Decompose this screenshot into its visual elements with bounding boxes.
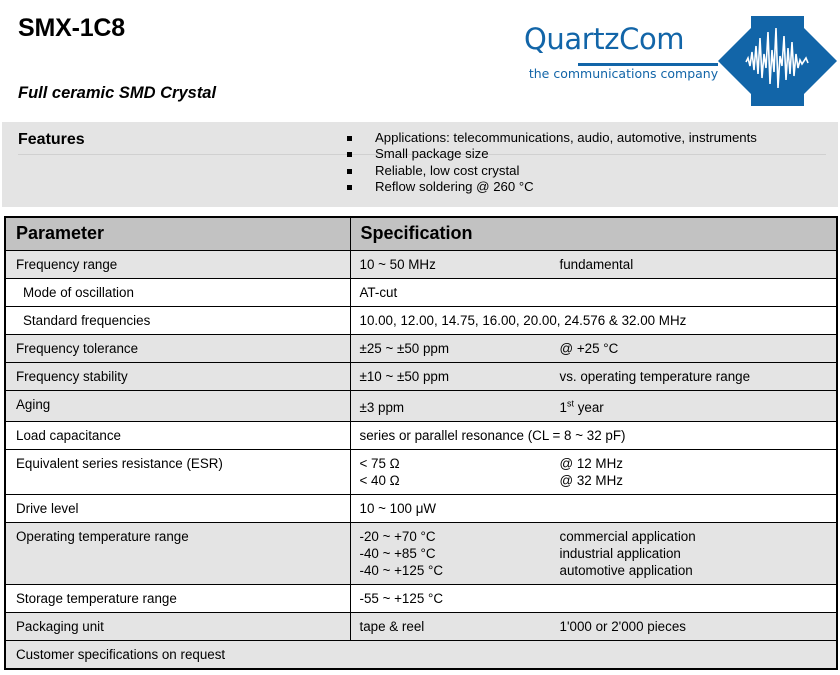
page-title: SMX-1C8 (18, 14, 125, 43)
features-section: Features Applications: telecommunication… (2, 122, 838, 207)
table-row: Operating temperature range-20 ~ +70 °Cc… (5, 523, 837, 585)
parameter-cell: Frequency stability (5, 363, 350, 391)
table-row: Frequency stability±10 ~ ±50 ppmvs. oper… (5, 363, 837, 391)
parameter-cell: Equivalent series resistance (ESR) (5, 450, 350, 495)
feature-item: Reflow soldering @ 260 °C (347, 179, 757, 195)
feature-item: Small package size (347, 146, 757, 162)
features-list: Applications: telecommunications, audio,… (347, 130, 757, 196)
specification-cell: 10 ~ 50 MHzfundamental (350, 251, 837, 279)
spec-note: vs. operating temperature range (560, 369, 751, 384)
spec-note: commercial application (560, 529, 696, 544)
spec-value: ±3 ppm (360, 399, 560, 416)
spec-line: 10 ~ 50 MHzfundamental (360, 256, 837, 273)
bullet-icon (347, 152, 352, 157)
table-row: Drive level10 ~ 100 μW (5, 495, 837, 523)
specification-cell: 10 ~ 100 μW (350, 495, 837, 523)
feature-item: Reliable, low cost crystal (347, 163, 757, 179)
spec-line: 10 ~ 100 μW (360, 500, 837, 517)
spec-note: 1st year (560, 400, 604, 415)
table-row: Mode of oscillationAT-cut (5, 279, 837, 307)
spec-value: ±10 ~ ±50 ppm (360, 368, 560, 385)
table-footer-row: Customer specifications on request (5, 641, 837, 670)
feature-item-label: Small package size (375, 146, 489, 161)
spec-line: -20 ~ +70 °Ccommercial application (360, 528, 837, 545)
spec-line: -55 ~ +125 °C (360, 590, 837, 607)
table-row: Frequency tolerance±25 ~ ±50 ppm@ +25 °C (5, 335, 837, 363)
spec-note: @ +25 °C (560, 341, 619, 356)
specification-cell: ±25 ~ ±50 ppm@ +25 °C (350, 335, 837, 363)
specification-cell: ±3 ppm1st year (350, 391, 837, 422)
table-row: Storage temperature range-55 ~ +125 °C (5, 585, 837, 613)
spec-line: -40 ~ +125 °Cautomotive application (360, 562, 837, 579)
parameter-cell: Mode of oscillation (5, 279, 350, 307)
parameter-cell: Storage temperature range (5, 585, 350, 613)
spec-value: < 75 Ω (360, 455, 560, 472)
specification-cell: 10.00, 12.00, 14.75, 16.00, 20.00, 24.57… (350, 307, 837, 335)
parameter-cell: Load capacitance (5, 422, 350, 450)
specification-table: Parameter Specification Frequency range1… (4, 216, 838, 670)
features-heading: Features (18, 131, 85, 149)
parameter-cell: Frequency tolerance (5, 335, 350, 363)
spec-value: -20 ~ +70 °C (360, 528, 560, 545)
spec-line: ±10 ~ ±50 ppmvs. operating temperature r… (360, 368, 837, 385)
logo-wordmark: QuartzCom (524, 22, 684, 56)
parameter-cell: Standard frequencies (5, 307, 350, 335)
specification-cell: < 75 Ω@ 12 MHz< 40 Ω@ 32 MHz (350, 450, 837, 495)
spec-table-body: Parameter Specification Frequency range1… (5, 217, 837, 669)
feature-item-label: Applications: telecommunications, audio,… (375, 130, 757, 145)
spec-value: ±25 ~ ±50 ppm (360, 340, 560, 357)
spec-line: -40 ~ +85 °Cindustrial application (360, 545, 837, 562)
specification-cell: ±10 ~ ±50 ppmvs. operating temperature r… (350, 363, 837, 391)
parameter-cell: Operating temperature range (5, 523, 350, 585)
spec-value: -40 ~ +125 °C (360, 562, 560, 579)
parameter-cell: Frequency range (5, 251, 350, 279)
table-header-row: Parameter Specification (5, 217, 837, 251)
waveform-arrows-mark (715, 16, 840, 106)
spec-note: industrial application (560, 546, 681, 561)
spec-line: < 75 Ω@ 12 MHz (360, 455, 837, 472)
logo-tagline: the communications company (526, 66, 721, 81)
specification-cell: series or parallel resonance (CL = 8 ~ 3… (350, 422, 837, 450)
spec-line: series or parallel resonance (CL = 8 ~ 3… (360, 427, 837, 444)
spec-line: 10.00, 12.00, 14.75, 16.00, 20.00, 24.57… (360, 312, 837, 329)
parameter-cell: Packaging unit (5, 613, 350, 641)
bullet-icon (347, 169, 352, 174)
company-logo: QuartzCom the communications company (520, 16, 840, 106)
spec-line: < 40 Ω@ 32 MHz (360, 472, 837, 489)
page-subtitle: Full ceramic SMD Crystal (18, 84, 216, 103)
bullet-icon (347, 136, 352, 141)
spec-value: tape & reel (360, 618, 560, 635)
specification-cell: -20 ~ +70 °Ccommercial application-40 ~ … (350, 523, 837, 585)
feature-item: Applications: telecommunications, audio,… (347, 130, 757, 146)
spec-line: ±3 ppm1st year (360, 396, 837, 416)
parameter-cell: Aging (5, 391, 350, 422)
column-header-parameter: Parameter (5, 217, 350, 251)
spec-value: 10 ~ 50 MHz (360, 256, 560, 273)
column-header-specification: Specification (350, 217, 837, 251)
feature-item-label: Reflow soldering @ 260 °C (375, 179, 534, 194)
feature-item-label: Reliable, low cost crystal (375, 163, 519, 178)
specification-cell: tape & reel1'000 or 2'000 pieces (350, 613, 837, 641)
table-row: Equivalent series resistance (ESR)< 75 Ω… (5, 450, 837, 495)
spec-note: @ 32 MHz (560, 473, 623, 488)
spec-value: -40 ~ +85 °C (360, 545, 560, 562)
table-row: Aging±3 ppm1st year (5, 391, 837, 422)
spec-note: fundamental (560, 257, 634, 272)
table-row: Standard frequencies10.00, 12.00, 14.75,… (5, 307, 837, 335)
spec-line: ±25 ~ ±50 ppm@ +25 °C (360, 340, 837, 357)
table-row: Packaging unittape & reel1'000 or 2'000 … (5, 613, 837, 641)
bullet-icon (347, 185, 352, 190)
table-row: Load capacitanceseries or parallel reson… (5, 422, 837, 450)
spec-value: < 40 Ω (360, 472, 560, 489)
spec-note: automotive application (560, 563, 693, 578)
spec-line: AT-cut (360, 284, 837, 301)
document-header: SMX-1C8 Full ceramic SMD Crystal QuartzC… (0, 0, 840, 122)
parameter-cell: Drive level (5, 495, 350, 523)
specification-cell: -55 ~ +125 °C (350, 585, 837, 613)
spec-note: @ 12 MHz (560, 456, 623, 471)
spec-line: tape & reel1'000 or 2'000 pieces (360, 618, 837, 635)
specification-cell: AT-cut (350, 279, 837, 307)
table-row: Frequency range10 ~ 50 MHzfundamental (5, 251, 837, 279)
customer-specifications-note: Customer specifications on request (5, 641, 837, 670)
spec-note: 1'000 or 2'000 pieces (560, 619, 686, 634)
